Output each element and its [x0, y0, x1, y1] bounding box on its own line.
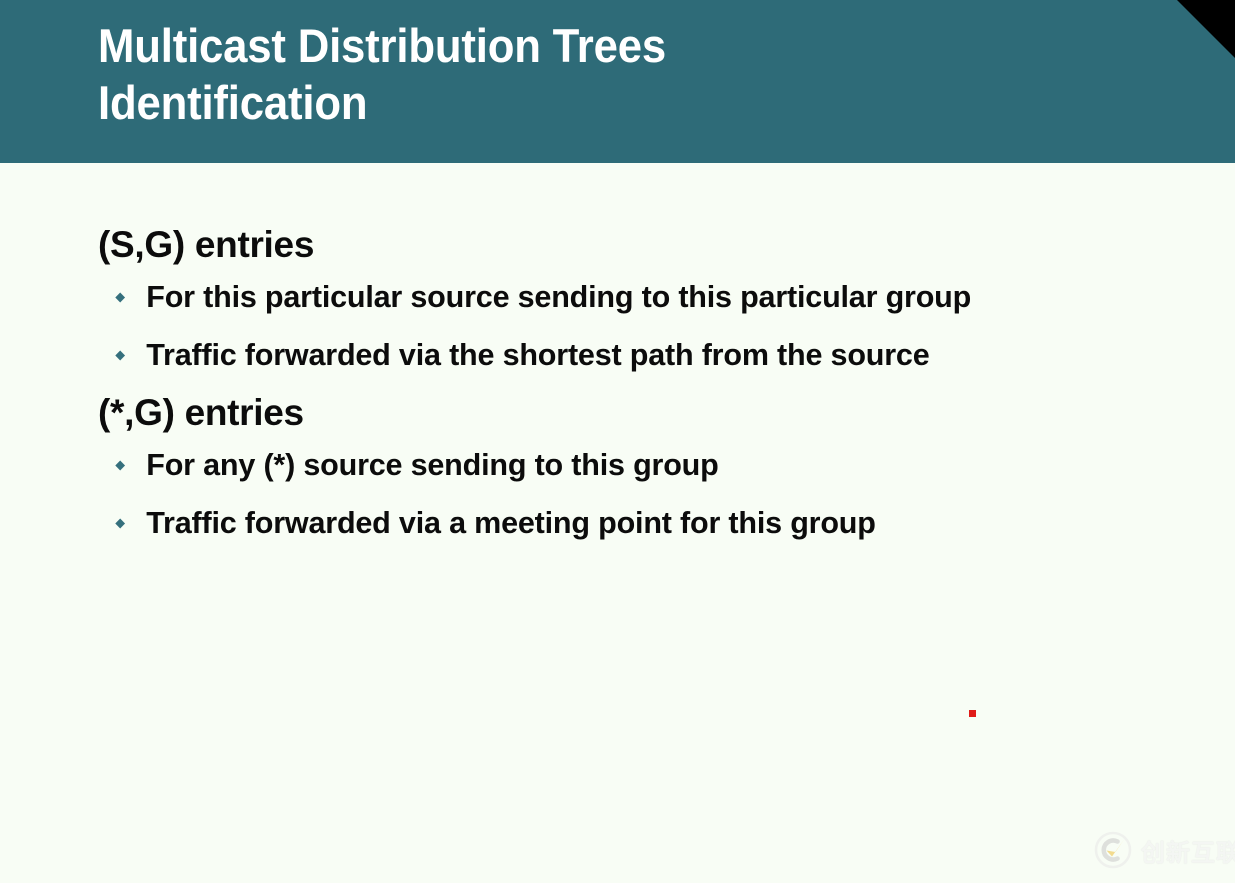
diamond-bullet-icon	[115, 461, 125, 471]
diamond-bullet-icon	[115, 351, 125, 361]
list-item: Traffic forwarded via a meeting point fo…	[98, 497, 1162, 549]
watermark: 创新互联	[1093, 830, 1235, 870]
content-section: (*,G) entries For any (*) source sending…	[98, 387, 1178, 549]
red-dot-marker	[969, 710, 976, 717]
corner-wedge-decoration	[1177, 0, 1235, 58]
watermark-text: 创新互联	[1141, 833, 1235, 868]
section-heading-starg: (*,G) entries	[98, 387, 1178, 439]
slide-title: Multicast Distribution Trees Identificat…	[98, 17, 1065, 131]
section-heading-sg: (S,G) entries	[98, 219, 1178, 271]
presentation-slide: Multicast Distribution Trees Identificat…	[0, 0, 1235, 883]
diamond-bullet-icon	[115, 293, 125, 303]
content-section: (S,G) entries For this particular source…	[98, 219, 1178, 381]
list-item: For any (*) source sending to this group	[98, 439, 1162, 491]
slide-body: (S,G) entries For this particular source…	[0, 163, 1235, 883]
bullet-list-sg: For this particular source sending to th…	[98, 271, 1178, 381]
bullet-text: Traffic forwarded via a meeting point fo…	[146, 505, 875, 540]
slide-header-banner: Multicast Distribution Trees Identificat…	[0, 0, 1235, 163]
bullet-text: Traffic forwarded via the shortest path …	[146, 337, 929, 372]
diamond-bullet-icon	[115, 519, 125, 529]
list-item: Traffic forwarded via the shortest path …	[98, 329, 1162, 381]
bullet-text: For any (*) source sending to this group	[146, 447, 718, 482]
bullet-text: For this particular source sending to th…	[146, 279, 971, 314]
bullet-list-starg: For any (*) source sending to this group…	[98, 439, 1178, 549]
circle-swoosh-logo-icon	[1093, 830, 1133, 870]
list-item: For this particular source sending to th…	[98, 271, 1162, 323]
slide-content: (S,G) entries For this particular source…	[98, 219, 1178, 555]
